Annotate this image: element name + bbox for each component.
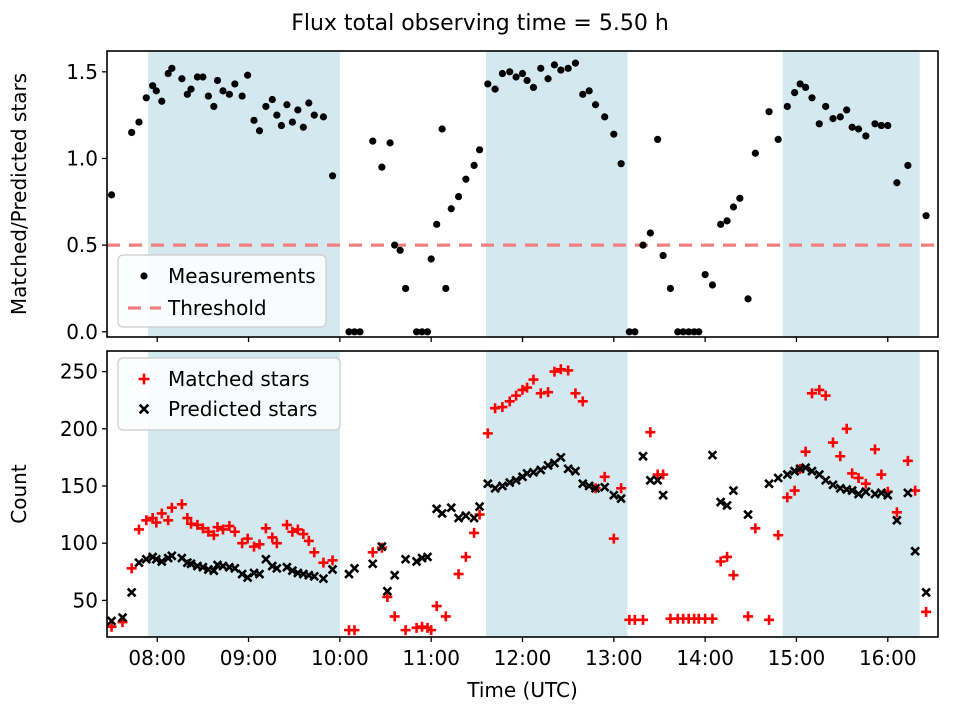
y-axis-label-top: Matched/Predicted stars	[7, 73, 31, 315]
measurement-point	[551, 61, 558, 68]
measurement-point	[878, 122, 885, 129]
predicted-star-point	[730, 487, 738, 495]
measurement-point	[205, 92, 212, 99]
measurement-point	[428, 255, 435, 262]
matched-star-point	[645, 427, 655, 437]
x-tick-label: 11:00	[402, 646, 460, 670]
predicted-star-point	[659, 491, 667, 499]
measurement-point	[214, 77, 221, 84]
y-tick-label-bottom: 250	[60, 360, 98, 384]
measurement-point	[513, 73, 520, 80]
measurement-point	[775, 136, 782, 143]
matched-star-point	[921, 607, 931, 617]
predicted-star-point	[774, 474, 782, 482]
measurement-point	[592, 101, 599, 108]
legend-label-threshold: Threshold	[167, 296, 267, 320]
measurement-point	[135, 118, 142, 125]
predicted-star-point	[476, 503, 484, 511]
predicted-star-point	[744, 511, 752, 519]
measurement-point	[829, 115, 836, 122]
measurement-point	[904, 162, 911, 169]
predicted-star-point	[128, 588, 136, 596]
predicted-star-point	[765, 480, 773, 488]
measurement-point	[386, 139, 393, 146]
matched-star-point	[134, 524, 144, 534]
x-tick-label: 16:00	[859, 646, 917, 670]
y-axis-label-bottom: Count	[7, 464, 31, 524]
predicted-star-point	[135, 559, 143, 567]
legend-label-predicted: Predicted stars	[168, 397, 317, 421]
x-tick-label: 09:00	[220, 646, 278, 670]
shaded-band-3	[783, 51, 920, 337]
measurement-point	[647, 229, 654, 236]
y-tick-label-top: 1.5	[66, 60, 98, 84]
measurement-point	[455, 193, 462, 200]
y-tick-label-bottom: 50	[73, 588, 98, 612]
matched-star-point	[469, 528, 479, 538]
measurement-point	[250, 117, 257, 124]
measurement-point	[239, 92, 246, 99]
matched-star-point	[773, 530, 783, 540]
shaded-band-b2	[486, 351, 628, 637]
matched-star-point	[349, 625, 359, 635]
measurement-point	[219, 87, 226, 94]
predicted-star-point	[639, 452, 647, 460]
measurement-point	[765, 108, 772, 115]
measurement-point	[168, 65, 175, 72]
measurement-point	[433, 221, 440, 228]
measurement-point	[537, 65, 544, 72]
measurement-point	[862, 132, 869, 139]
measurement-point	[784, 103, 791, 110]
measurement-point	[884, 122, 891, 129]
measurement-point	[923, 212, 930, 219]
x-tick-label: 10:00	[311, 646, 369, 670]
measurement-point	[855, 125, 862, 132]
legend-marker-measurements	[140, 272, 147, 279]
measurement-point	[791, 89, 798, 96]
predicted-star-point	[447, 504, 455, 512]
predicted-star-point	[709, 451, 717, 459]
measurement-point	[178, 75, 185, 82]
measurement-point	[717, 221, 724, 228]
measurement-point	[269, 96, 276, 103]
predicted-star-point	[402, 555, 410, 563]
measurement-point	[736, 195, 743, 202]
measurement-point	[579, 91, 586, 98]
measurement-point	[484, 80, 491, 87]
x-tick-label: 14:00	[676, 646, 734, 670]
x-tick-label: 15:00	[768, 646, 826, 670]
chart-title: Flux total observing time = 5.50 h	[291, 11, 669, 36]
measurement-point	[837, 113, 844, 120]
y-tick-label-bottom: 100	[60, 531, 98, 555]
measurement-point	[506, 68, 513, 75]
measurement-point	[744, 295, 751, 302]
predicted-star-point	[369, 560, 377, 568]
matched-star-point	[441, 611, 451, 621]
measurement-point	[273, 112, 280, 119]
measurement-point	[523, 77, 530, 84]
measurement-point	[476, 146, 483, 153]
matched-star-point	[743, 611, 753, 621]
measurement-point	[244, 72, 251, 79]
measurement-point	[667, 285, 674, 292]
measurement-point	[462, 176, 469, 183]
measurement-point	[610, 131, 617, 138]
predicted-star-point	[470, 514, 478, 522]
measurement-point	[843, 106, 850, 113]
legend-label-matched: Matched stars	[168, 367, 310, 391]
measurement-point	[256, 127, 263, 134]
measurement-point	[143, 94, 150, 101]
y-tick-label-top: 0.0	[66, 320, 98, 344]
measurement-point	[305, 99, 312, 106]
measurement-point	[442, 285, 449, 292]
measurement-point	[311, 112, 318, 119]
predicted-star-point	[922, 588, 930, 596]
legend-label-measurements: Measurements	[168, 264, 316, 288]
measurement-point	[752, 150, 759, 157]
measurement-point	[499, 70, 506, 77]
figure-root: Flux total observing time = 5.50 h 0.00.…	[0, 0, 960, 720]
measurement-point	[231, 80, 238, 87]
measurement-point	[199, 73, 206, 80]
y-tick-label-bottom: 200	[60, 417, 98, 441]
measurement-point	[108, 191, 115, 198]
measurement-point	[278, 122, 285, 129]
matched-star-point	[390, 611, 400, 621]
matched-star-point	[638, 615, 648, 625]
measurement-point	[816, 120, 823, 127]
measurement-point	[369, 138, 376, 145]
x-axis-label: Time (UTC)	[466, 678, 578, 702]
measurement-point	[808, 94, 815, 101]
measurement-point	[695, 328, 702, 335]
top-panel: 0.00.51.01.5Matched/Predicted starsMeasu…	[7, 51, 938, 344]
measurement-point	[158, 98, 165, 105]
chart-canvas: Flux total observing time = 5.50 h 0.00.…	[0, 0, 960, 720]
measurement-point	[709, 281, 716, 288]
measurement-point	[289, 118, 296, 125]
matched-star-point	[750, 523, 760, 533]
matched-star-point	[432, 601, 442, 611]
matched-star-point	[454, 569, 464, 579]
matched-star-point	[368, 547, 378, 557]
measurement-point	[329, 172, 336, 179]
measurement-point	[849, 124, 856, 131]
measurement-point	[378, 164, 385, 171]
measurement-point	[320, 113, 327, 120]
measurement-point	[391, 242, 398, 249]
measurement-point	[822, 103, 829, 110]
shaded-band-2	[486, 51, 628, 337]
x-tick-label: 13:00	[585, 646, 643, 670]
measurement-point	[283, 101, 290, 108]
measurement-point	[723, 217, 730, 224]
measurement-point	[893, 179, 900, 186]
shaded-band-b3	[783, 351, 920, 637]
measurement-point	[153, 87, 160, 94]
predicted-star-point	[455, 514, 463, 522]
measurement-point	[618, 160, 625, 167]
measurement-point	[557, 66, 564, 73]
measurement-point	[519, 70, 526, 77]
measurement-point	[128, 129, 135, 136]
measurement-point	[660, 252, 667, 259]
measurement-point	[601, 113, 608, 120]
predicted-star-point	[462, 512, 470, 520]
measurement-point	[565, 65, 572, 72]
measurement-point	[530, 84, 537, 91]
y-tick-label-top: 0.5	[66, 233, 98, 257]
predicted-star-point	[391, 571, 399, 579]
measurement-point	[471, 162, 478, 169]
measurement-point	[397, 247, 404, 254]
measurement-point	[210, 103, 217, 110]
measurement-point	[802, 84, 809, 91]
measurement-point	[356, 328, 363, 335]
measurement-point	[262, 103, 269, 110]
x-tick-label: 08:00	[128, 646, 186, 670]
measurement-point	[730, 203, 737, 210]
measurement-point	[492, 86, 499, 93]
predicted-star-point	[646, 476, 654, 484]
y-tick-label-bottom: 150	[60, 474, 98, 498]
predicted-star-point	[351, 564, 359, 572]
measurement-point	[424, 328, 431, 335]
measurement-point	[226, 91, 233, 98]
measurement-point	[402, 285, 409, 292]
bottom-panel: 50100150200250CountMatched starsPredicte…	[7, 351, 938, 637]
y-tick-label-top: 1.0	[66, 146, 98, 170]
measurement-point	[544, 75, 551, 82]
x-tick-label: 12:00	[494, 646, 552, 670]
measurement-point	[187, 86, 194, 93]
measurement-point	[654, 136, 661, 143]
measurement-point	[572, 60, 579, 67]
matched-star-point	[728, 570, 738, 580]
matched-star-point	[461, 552, 471, 562]
measurement-point	[300, 124, 307, 131]
measurement-point	[631, 328, 638, 335]
measurement-point	[448, 205, 455, 212]
matched-star-point	[401, 625, 411, 635]
measurement-point	[639, 242, 646, 249]
measurement-point	[294, 106, 301, 113]
measurement-point	[586, 87, 593, 94]
measurement-point	[871, 120, 878, 127]
measurement-point	[702, 271, 709, 278]
matched-star-point	[764, 615, 774, 625]
matched-star-point	[707, 614, 717, 624]
measurement-point	[439, 125, 446, 132]
